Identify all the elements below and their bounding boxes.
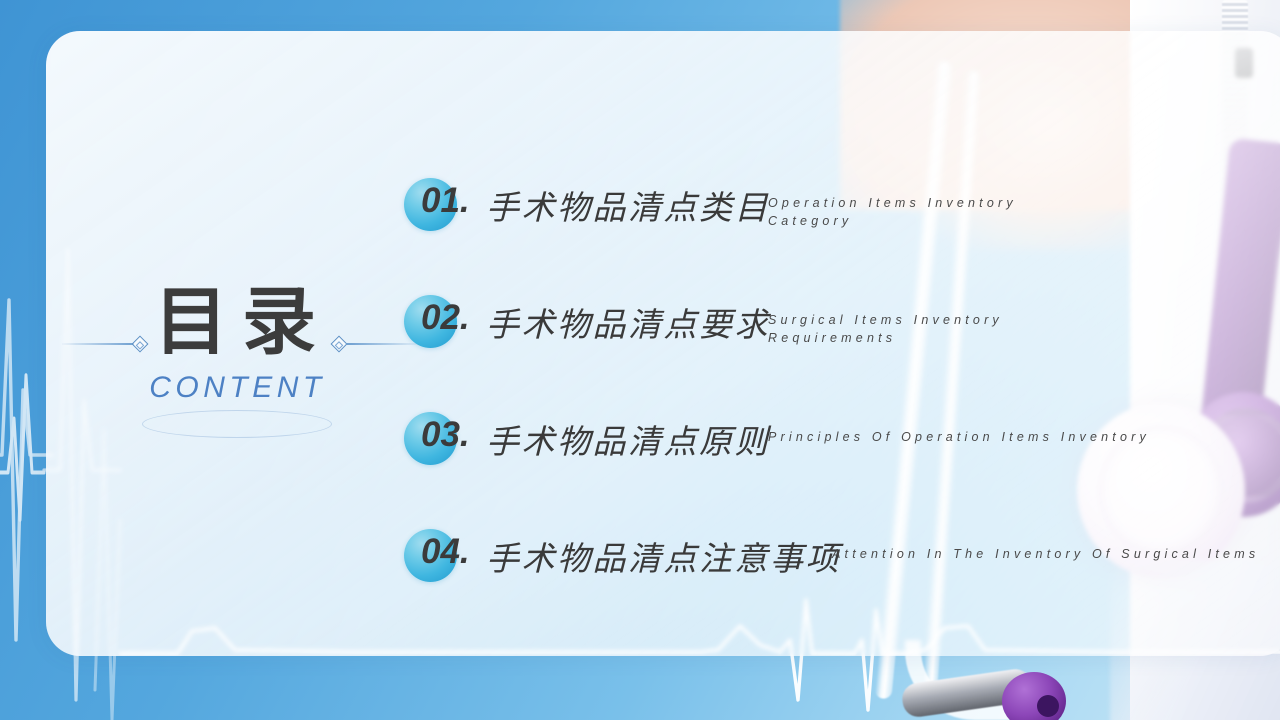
list-item[interactable]: 04. 手术物品清点注意事项 Attention In The Inventor… <box>404 523 1280 640</box>
item-title-cn: 手术物品清点原则 <box>486 415 770 463</box>
item-number: 02. <box>421 298 470 338</box>
stethoscope-ear-tip-hole <box>1037 695 1059 717</box>
connector-left <box>62 338 148 350</box>
diamond-icon <box>331 336 348 353</box>
item-title-en: Surgical Items Inventory Requirements <box>768 311 1068 347</box>
diamond-icon <box>132 336 149 353</box>
item-title-cn: 手术物品清点注意事项 <box>486 532 841 580</box>
content-list: 01. 手术物品清点类目 Operation Items Inventory C… <box>404 172 1280 640</box>
item-number: 01. <box>421 181 470 221</box>
item-number: 03. <box>421 415 470 455</box>
item-title-cn: 手术物品清点要求 <box>486 298 770 346</box>
item-number: 04. <box>421 532 470 572</box>
list-item[interactable]: 03. 手术物品清点原则 Principles Of Operation Ite… <box>404 406 1280 523</box>
item-title-en: Operation Items Inventory Category <box>768 194 1068 230</box>
connector-left-line <box>62 343 134 345</box>
list-item[interactable]: 02. 手术物品清点要求 Surgical Items Inventory Re… <box>404 289 1280 406</box>
title-underline-ellipse <box>142 410 332 438</box>
slide-canvas: 目录 CONTENT 01. 手术物品清点类目 Operation Items … <box>0 0 1280 720</box>
item-title-en: Principles Of Operation Items Inventory <box>768 428 1208 446</box>
item-title-cn: 手术物品清点类目 <box>486 181 770 229</box>
page-title-en: CONTENT <box>110 371 360 405</box>
list-item[interactable]: 01. 手术物品清点类目 Operation Items Inventory C… <box>404 172 1280 289</box>
item-title-en: Attention In The Inventory Of Surgical I… <box>832 545 1272 563</box>
